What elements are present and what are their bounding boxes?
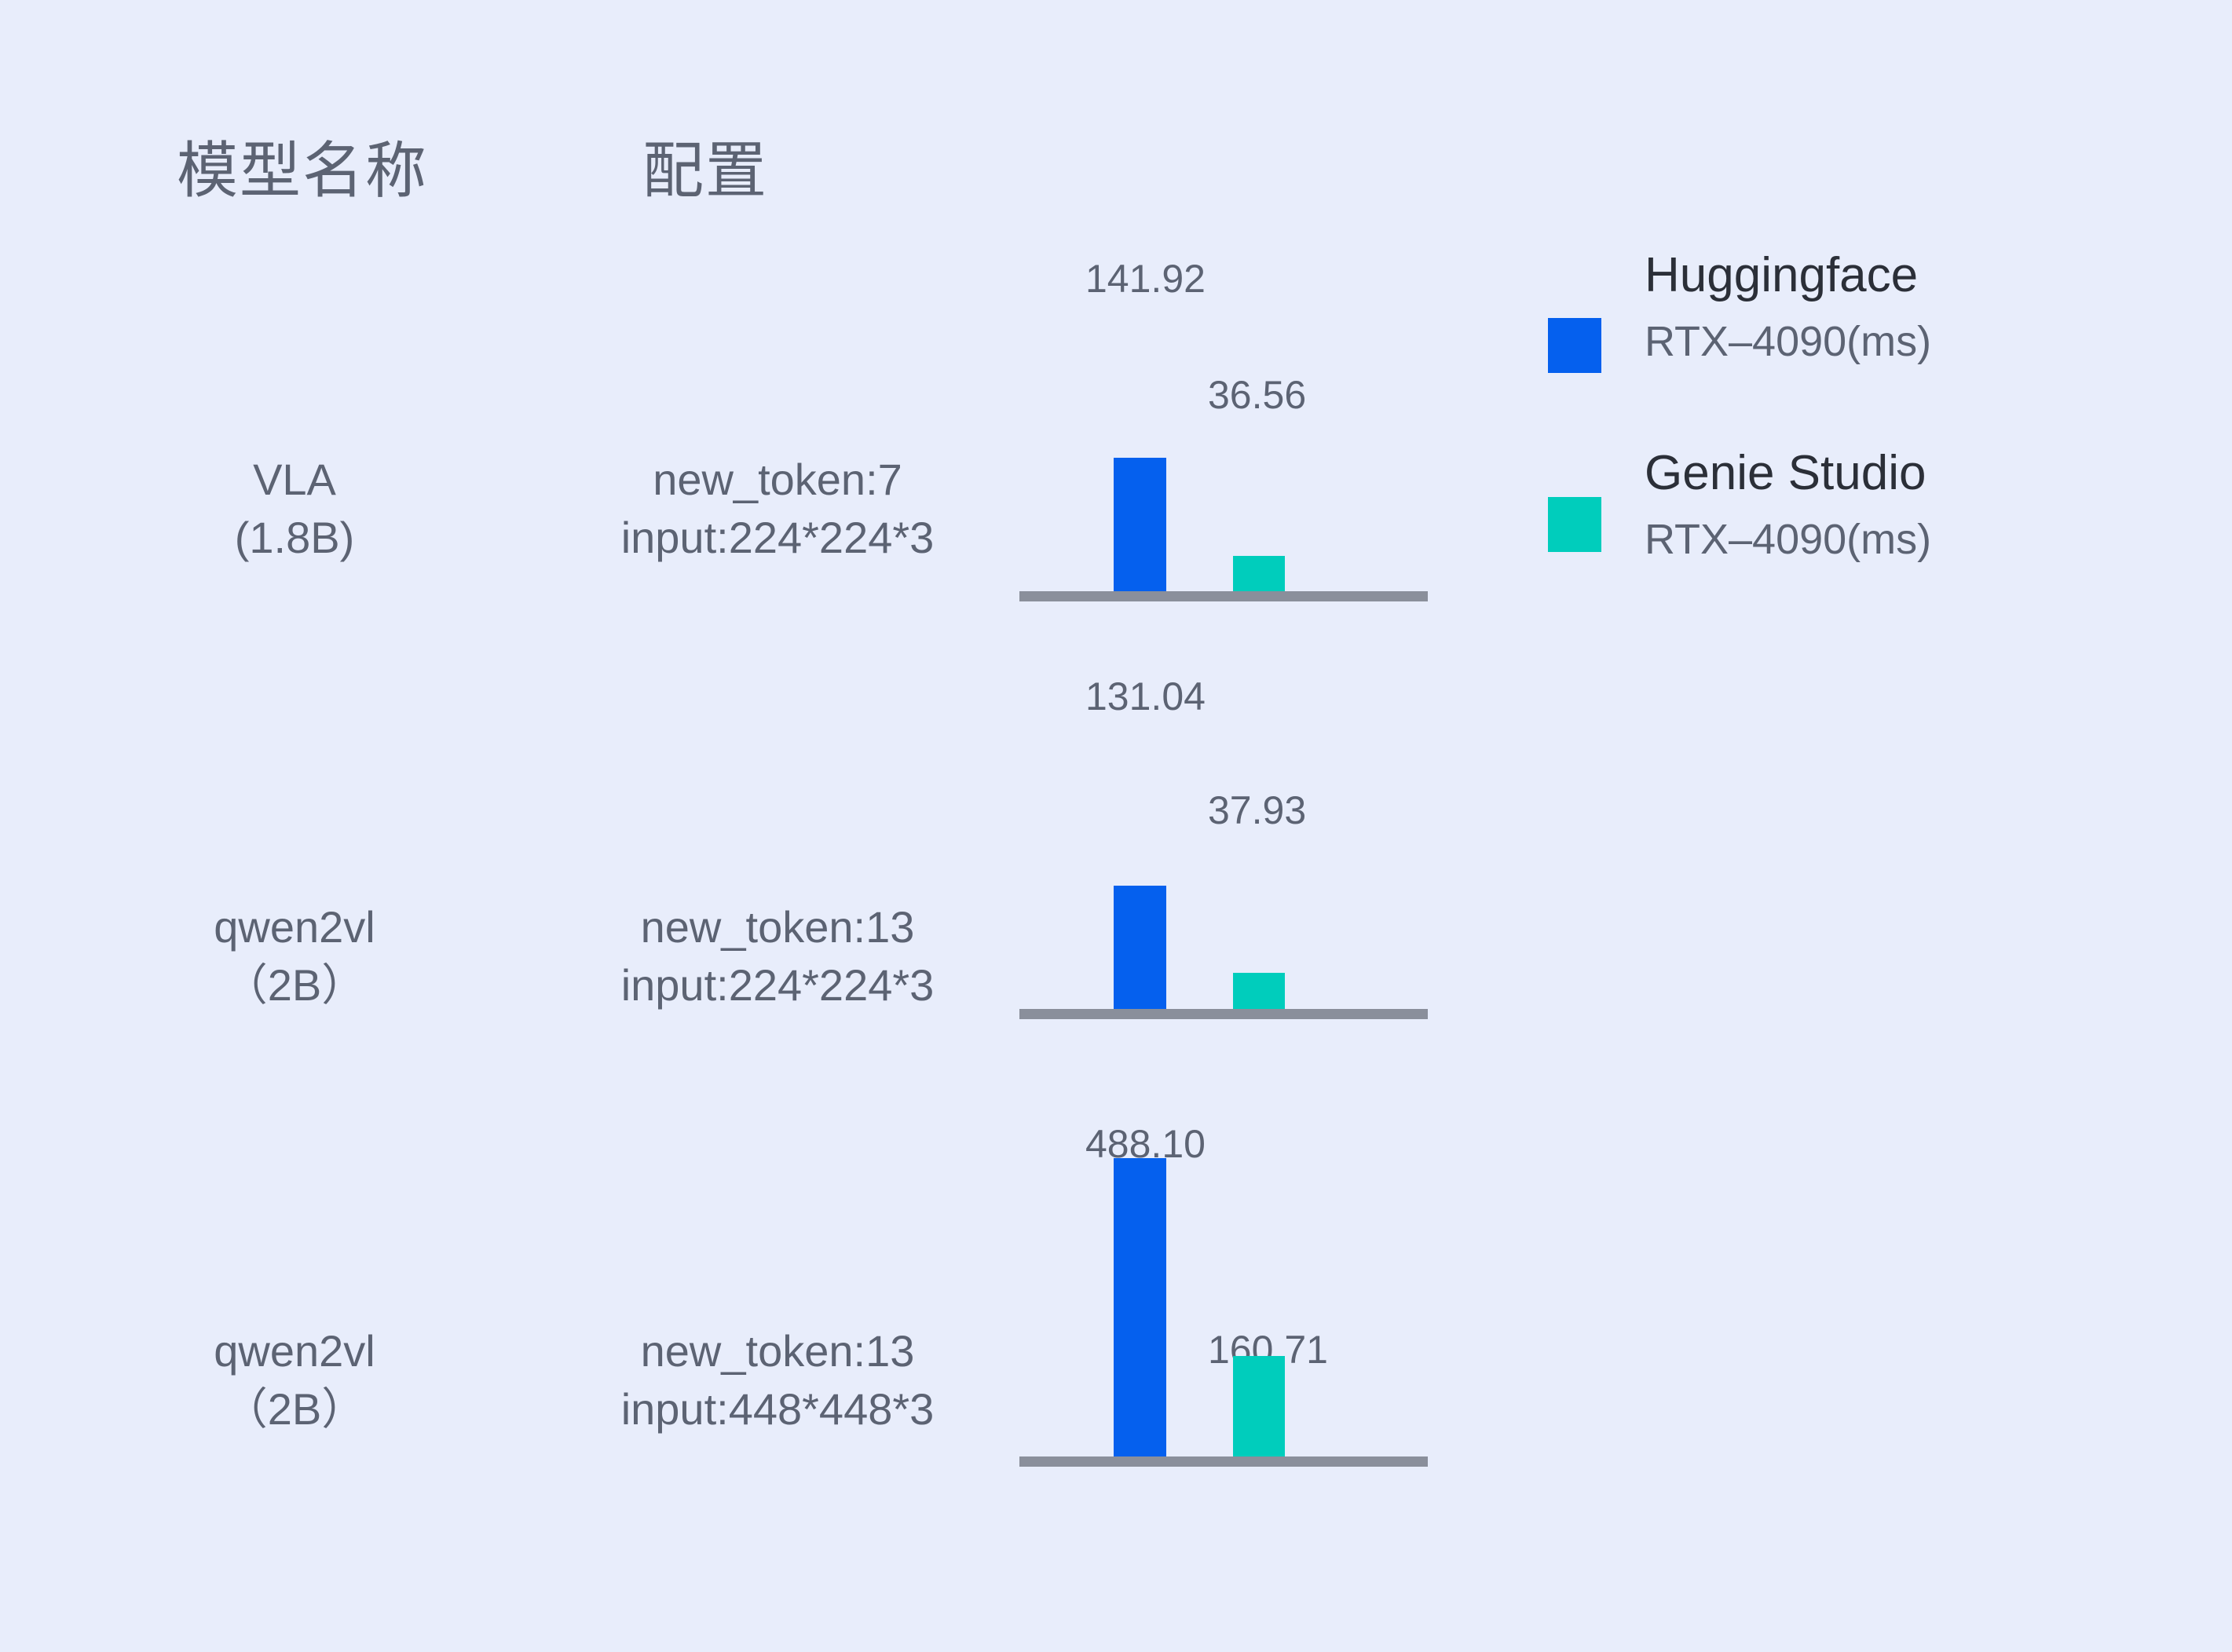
bar-value-huggingface: 131.04	[1085, 677, 1206, 716]
bar-genie-studio[interactable]	[1233, 973, 1285, 1009]
row-model-label: qwen2vl （2B）	[141, 898, 448, 1014]
legend-sublabel: RTX–4090(ms)	[1645, 320, 1931, 363]
row-config-label: new_token:7 input:224*224*3	[487, 451, 1068, 567]
legend-text-group: Genie Studio RTX–4090(ms)	[1645, 449, 1931, 561]
row-config-input: input:224*224*3	[487, 509, 1068, 567]
baseline-axis	[1019, 1009, 1428, 1019]
row-model-label: VLA (1.8B)	[141, 451, 448, 567]
chart-row: qwen2vl （2B） new_token:13 input:448*448*…	[0, 1124, 2232, 1486]
bar-huggingface[interactable]	[1114, 458, 1166, 591]
row-model-name: VLA	[253, 455, 336, 504]
baseline-axis	[1019, 591, 1428, 601]
column-header-model-name: 模型名称	[177, 140, 428, 201]
legend-sublabel: RTX–4090(ms)	[1645, 518, 1931, 561]
column-header-config: 配置	[642, 140, 768, 201]
row-config-input: input:224*224*3	[487, 956, 1068, 1014]
legend-label: Huggingface	[1645, 251, 1931, 300]
bar-genie-studio[interactable]	[1233, 1356, 1285, 1456]
row-model-size: （2B）	[141, 1380, 448, 1438]
row-model-size: (1.8B)	[141, 509, 448, 567]
bar-genie-studio[interactable]	[1233, 556, 1285, 591]
bar-value-genie-studio: 36.56	[1208, 375, 1306, 415]
row-model-size: （2B）	[141, 956, 448, 1014]
row-plot: 131.04 37.93	[1019, 677, 1428, 1038]
row-model-label: qwen2vl （2B）	[141, 1322, 448, 1438]
bar-huggingface[interactable]	[1114, 1158, 1166, 1463]
row-plot: 141.92 36.56	[1019, 259, 1428, 620]
legend-item-huggingface[interactable]: Huggingface RTX–4090(ms)	[1544, 251, 2219, 408]
legend-text-group: Huggingface RTX–4090(ms)	[1645, 251, 1931, 363]
row-config-label: new_token:13 input:224*224*3	[487, 898, 1068, 1014]
legend-item-genie-studio[interactable]: Genie Studio RTX–4090(ms)	[1544, 449, 2219, 606]
row-config-token: new_token:7	[653, 455, 902, 504]
bar-huggingface[interactable]	[1114, 886, 1166, 1009]
chart-row: qwen2vl （2B） new_token:13 input:224*224*…	[0, 677, 2232, 1038]
baseline-axis	[1019, 1456, 1428, 1467]
bar-value-genie-studio: 37.93	[1208, 791, 1306, 830]
row-model-name: qwen2vl	[214, 902, 375, 952]
chart-canvas: 模型名称 配置 VLA (1.8B) new_token:7 input:224…	[0, 0, 2232, 1652]
row-plot: 488.10 160.71	[1019, 1124, 1428, 1486]
legend-swatch-icon	[1548, 318, 1601, 373]
bar-value-huggingface: 141.92	[1085, 259, 1206, 298]
legend-label: Genie Studio	[1645, 449, 1931, 498]
row-model-name: qwen2vl	[214, 1326, 375, 1376]
row-config-token: new_token:13	[641, 1326, 915, 1376]
row-config-token: new_token:13	[641, 902, 915, 952]
row-config-input: input:448*448*3	[487, 1380, 1068, 1438]
row-config-label: new_token:13 input:448*448*3	[487, 1322, 1068, 1438]
legend-swatch-icon	[1548, 497, 1601, 552]
